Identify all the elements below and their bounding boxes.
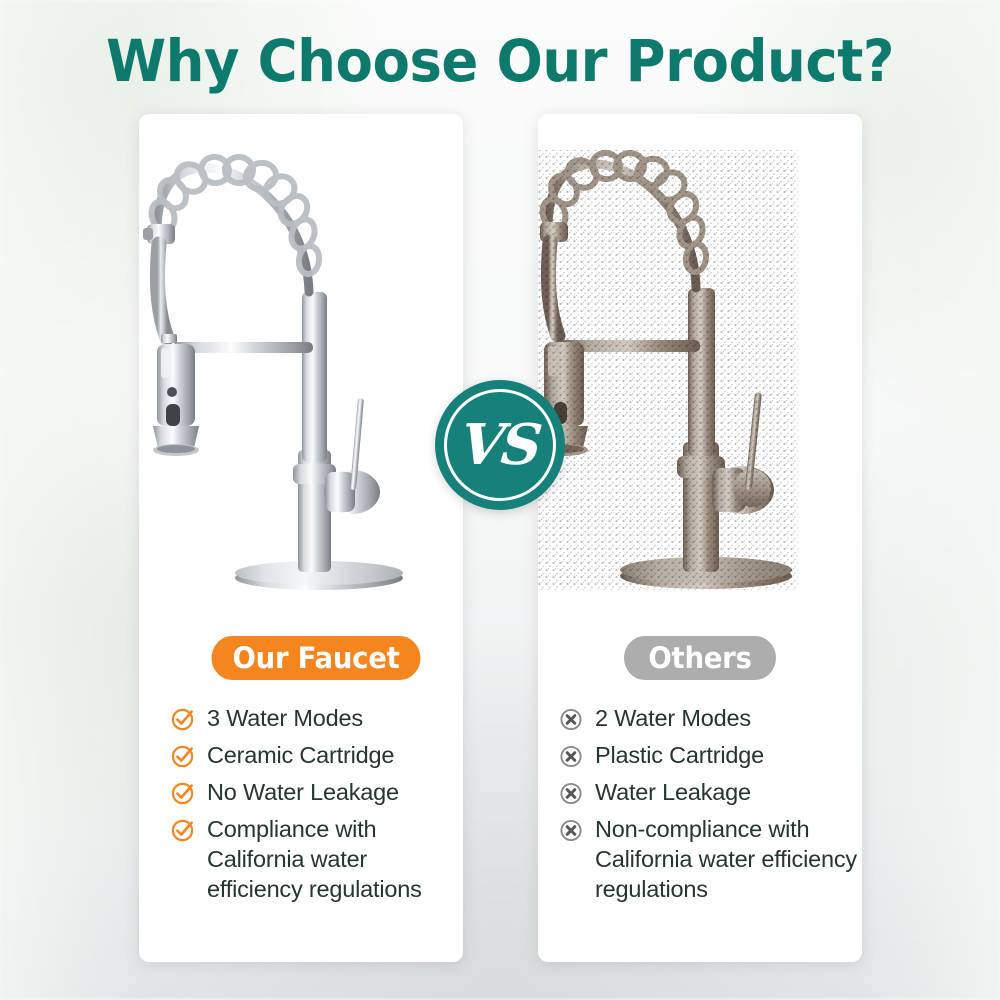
x-circle-icon <box>558 706 584 732</box>
card-bottom-spacer <box>139 954 463 962</box>
x-circle-icon <box>558 780 584 806</box>
check-circle-icon <box>170 743 196 769</box>
vs-badge: VS <box>435 380 565 510</box>
feature-label: Compliance with California water efficie… <box>207 814 465 904</box>
check-circle-icon <box>170 817 196 843</box>
list-item: Non-compliance with California water eff… <box>558 814 888 904</box>
page-title: Why Choose Our Product? <box>30 27 970 95</box>
feature-label: Ceramic Cartridge <box>207 740 394 770</box>
feature-list-ours: 3 Water Modes Ceramic Cartridge No Water… <box>170 703 500 911</box>
feature-list-others: 2 Water Modes Plastic Cartridge Water Le… <box>558 703 888 911</box>
list-item: Ceramic Cartridge <box>170 740 500 770</box>
label-our-faucet: Our Faucet <box>212 636 421 680</box>
label-others: Others <box>624 636 776 680</box>
feature-label: 2 Water Modes <box>595 703 751 733</box>
list-item: 2 Water Modes <box>558 703 888 733</box>
check-circle-icon <box>170 706 196 732</box>
list-item: Compliance with California water efficie… <box>170 814 500 904</box>
feature-label: Non-compliance with California water eff… <box>595 814 880 904</box>
list-item: Water Leakage <box>558 777 888 807</box>
product-image-other-faucet <box>538 120 862 620</box>
x-circle-icon <box>558 817 584 843</box>
feature-label: 3 Water Modes <box>207 703 363 733</box>
infographic-page: Why Choose Our Product? <box>0 0 1000 1000</box>
list-item: Plastic Cartridge <box>558 740 888 770</box>
check-circle-icon <box>170 780 196 806</box>
feature-label: Plastic Cartridge <box>595 740 764 770</box>
feature-label: No Water Leakage <box>207 777 399 807</box>
product-image-our-faucet <box>139 120 463 620</box>
vs-badge-label: VS <box>458 417 542 473</box>
feature-label: Water Leakage <box>595 777 751 807</box>
list-item: No Water Leakage <box>170 777 500 807</box>
x-circle-icon <box>558 743 584 769</box>
list-item: 3 Water Modes <box>170 703 500 733</box>
